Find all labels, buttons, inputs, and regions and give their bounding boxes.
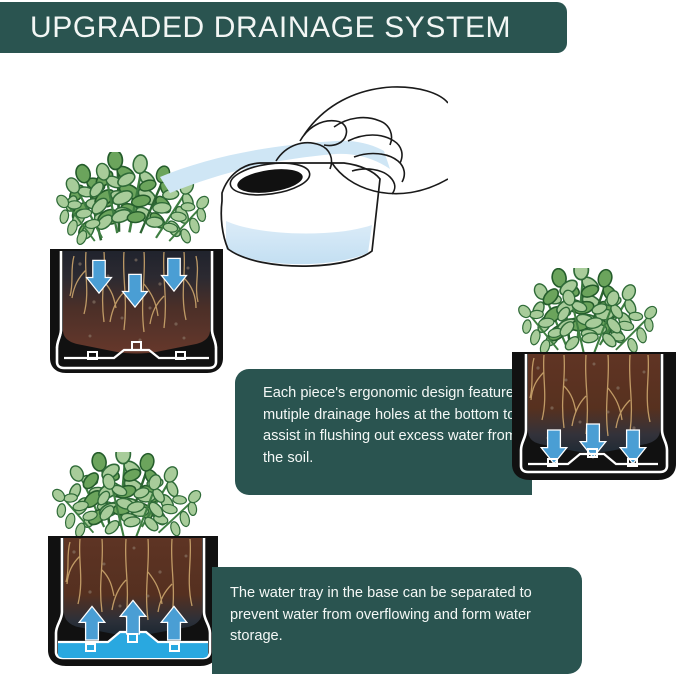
callout-water-tray: The water tray in the base can be separa…	[212, 567, 582, 674]
callout-drainage-holes: Each piece's ergonomic design features m…	[235, 369, 532, 495]
callout-water-tray-text: The water tray in the base can be separa…	[230, 583, 566, 648]
foliage-group	[507, 268, 668, 362]
planter-cross-section-water-storage	[42, 452, 224, 684]
header-banner: UPGRADED DRAINAGE SYSTEM	[0, 2, 567, 53]
planter-cross-section-draining	[506, 268, 679, 500]
hand-pouring-watering-can	[148, 83, 448, 278]
infographic-canvas: UPGRADED DRAINAGE SYSTEM	[0, 0, 679, 690]
hand-outline	[300, 87, 448, 194]
callout-drainage-holes-text: Each piece's ergonomic design features m…	[263, 383, 522, 469]
can-water-body	[226, 221, 372, 264]
page-title: UPGRADED DRAINAGE SYSTEM	[30, 11, 511, 45]
foliage-group	[42, 452, 212, 545]
